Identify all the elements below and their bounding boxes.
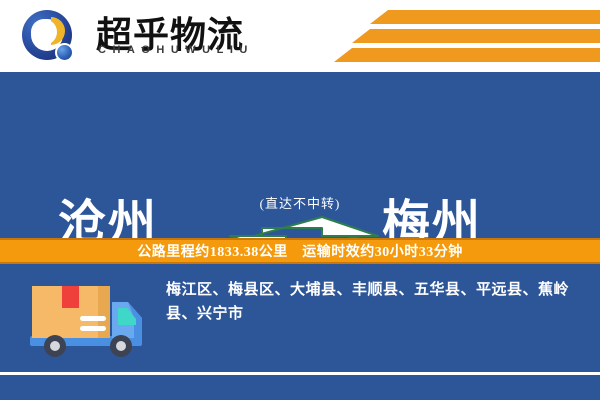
banner-header: 超乎物流 CHAOHUWULIU bbox=[0, 0, 600, 72]
distance-duration-bar: 公路里程约1833.38公里 运输时效约30小时33分钟 bbox=[0, 238, 600, 264]
coverage-footer: 梅江区、梅县区、大埔县、丰顺县、五华县、平远县、蕉岭县、兴宁市 bbox=[0, 264, 600, 400]
route-hero: 沧州 (直达不中转) 【往返运输】 梅州 bbox=[0, 72, 600, 238]
coverage-areas-text: 梅江区、梅县区、大埔县、丰顺县、五华县、平远县、蕉岭县、兴宁市 bbox=[166, 278, 584, 326]
circle-crescent-logo-icon bbox=[22, 10, 76, 64]
footer-divider bbox=[0, 372, 600, 375]
distance-duration-text: 公路里程约1833.38公里 运输时效约30小时33分钟 bbox=[137, 241, 463, 261]
direct-route-note: (直达不中转) bbox=[0, 193, 600, 212]
orange-speed-stripes-icon bbox=[0, 0, 600, 72]
logo-dot bbox=[55, 43, 74, 62]
logo-crescent-cutout bbox=[31, 19, 57, 45]
delivery-truck-icon bbox=[22, 278, 152, 364]
brand-name-en: CHAOHUWULIU bbox=[98, 44, 254, 56]
logistics-route-banner: 超乎物流 CHAOHUWULIU 沧州 (直达不中转) 【往返运输】 梅州 公路… bbox=[0, 0, 600, 400]
